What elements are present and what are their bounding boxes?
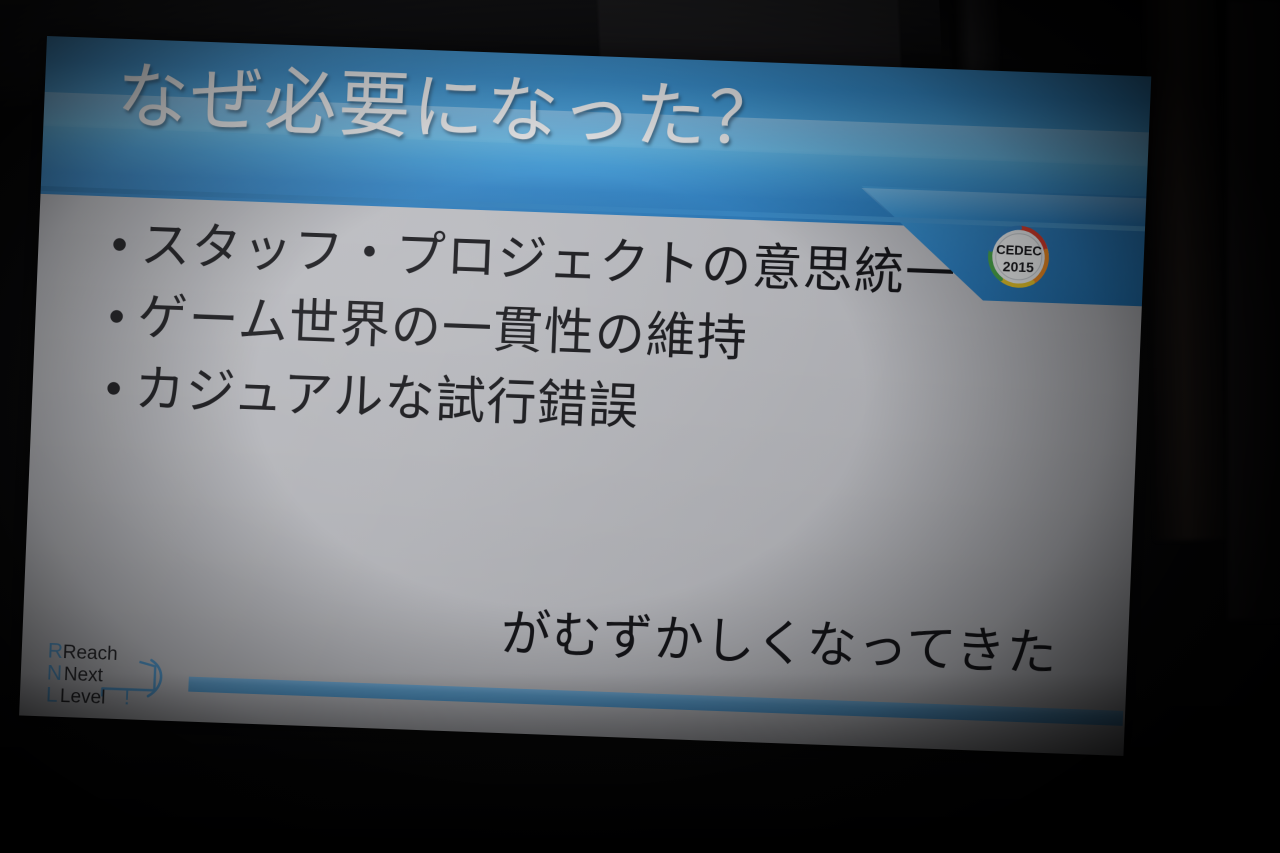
projected-slide-surface: なぜ必要になった？ CEDEC 2015 bbox=[19, 36, 1151, 756]
rnl-initial-r: R bbox=[47, 639, 63, 663]
closing-statement: がむずかしくなってきた bbox=[500, 606, 1059, 681]
bullet-marker-icon: • bbox=[91, 352, 136, 423]
bottom-shadow-haze bbox=[0, 673, 1280, 853]
slide: なぜ必要になった？ CEDEC 2015 bbox=[19, 36, 1151, 756]
projection-scene: なぜ必要になった？ CEDEC 2015 bbox=[0, 0, 1280, 853]
bullet-marker-icon: • bbox=[94, 280, 139, 351]
cedec-logo-line2: 2015 bbox=[1002, 258, 1034, 275]
bullet-marker-icon: • bbox=[97, 208, 142, 279]
cedec-2015-logo-icon: CEDEC 2015 bbox=[982, 221, 1055, 294]
wall-strip-far-right bbox=[1144, 0, 1226, 541]
wall-edge-right bbox=[1228, 0, 1280, 620]
cedec-logo-line1: CEDEC bbox=[996, 242, 1043, 259]
rnl-word-reach: Reach bbox=[62, 642, 118, 665]
